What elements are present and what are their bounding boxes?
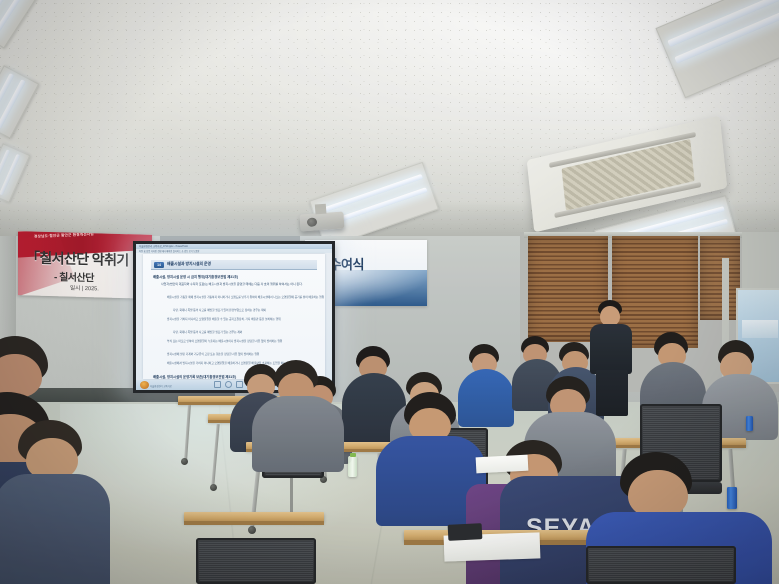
slide-bullet: 사업자(법인의 대표자와 수탁자 포함)는 배출시설과 방지시설을 운영할 때에… [161, 282, 303, 286]
legs [596, 370, 628, 416]
slide-bullet: 방지시설을 거치지 아니하고 오염물질을 배출할 수 있는 공기조절장치, 가지… [167, 317, 281, 321]
banner-left: 경상남도·함안군 함안군 환경개선사업 「칠서산단 악취기 - 칠서산단 일시 … [18, 231, 152, 299]
torso [0, 474, 110, 584]
seminar-room-photo: 경상남도·함안군 함안군 환경개선사업 「칠서산단 악취기 - 칠서산단 일시 … [0, 0, 779, 584]
ceiling-projector [299, 211, 344, 231]
smartphone [448, 523, 483, 541]
slide-bullet: 다만, 화재나 폭발 등의 사고를 예방할 필요가 있는 경우는 제외 [173, 330, 242, 334]
pointer-icon[interactable] [236, 381, 243, 388]
slide-bullet: 다만, 화재나 폭발 등의 사고를 예방할 필요가 있어 환경부령으로 정하는 … [173, 308, 266, 312]
environment-ministry-logo-icon [140, 381, 149, 389]
projector-lens [307, 217, 318, 227]
bottle-cap [350, 453, 356, 457]
handout-paper [476, 455, 529, 474]
slide-bullet: 부식 또는 마모로 인하여 오염물질이 누출되는 배출시설이나 방지시설을 정당… [167, 339, 282, 343]
window-blinds [700, 236, 740, 320]
beverage-can [727, 487, 737, 509]
titlebar-text: 자율환경관리 교육자료_0710.pptx - PowerPoint [139, 244, 188, 248]
head [628, 470, 688, 518]
projector-mount [315, 204, 327, 215]
right-wall-upper [742, 232, 779, 292]
powerpoint-menubar: 파일 홈 삽입 디자인 전환 애니메이션 슬라이드 쇼 검토 보기 도움말 [136, 249, 332, 253]
menubar-text: 파일 홈 삽입 디자인 전환 애니메이션 슬라이드 쇼 검토 보기 도움말 [139, 249, 199, 253]
banner-subtitle: - 칠서산단 [54, 268, 94, 284]
slide-bullet: 배출시설에서 방지시설을 거치지 아니하고 오염물질을 배출하거나 오염물질 배… [167, 361, 291, 365]
slide-heading: 배출시설과 방지시설의 운영 [167, 262, 211, 267]
head [600, 306, 620, 326]
zoom-icon[interactable] [225, 381, 232, 388]
slide-view-icon[interactable] [214, 381, 221, 388]
torso [458, 369, 514, 427]
slide-bullet: 배출시설을 가동할 때에 방지시설을 가동하지 아니하거나 오염도를 낮추기 위… [167, 295, 324, 299]
slide-bullet: 방지시설에 딸린 기계와 기구류의 고장 또는 훼손을 정당한 사유 없이 방치… [167, 352, 259, 356]
banner-title: 「칠서산단 악취기 [26, 247, 129, 270]
beverage-can [746, 416, 753, 431]
window-pane [742, 320, 778, 338]
banner-date: 일시 | 2025. [70, 284, 99, 293]
torso [252, 396, 344, 472]
slide-section-1: 배출시설, 방지시설 운영 시 금지 행위(대기환경보전법 제31조) [153, 274, 238, 279]
slide-number-badge: 14 [154, 262, 164, 268]
water-bottle [348, 456, 357, 477]
table [184, 512, 324, 524]
slide-header: 14 배출시설과 방지시설의 운영 [151, 260, 317, 270]
torso [590, 324, 632, 374]
slide-section-2: 배출시설, 방지시설의 운영기록 보존(대기환경보전법 제31조) [153, 374, 236, 379]
slide-footer-text: 자율환경관리 교육자료 [150, 384, 172, 388]
